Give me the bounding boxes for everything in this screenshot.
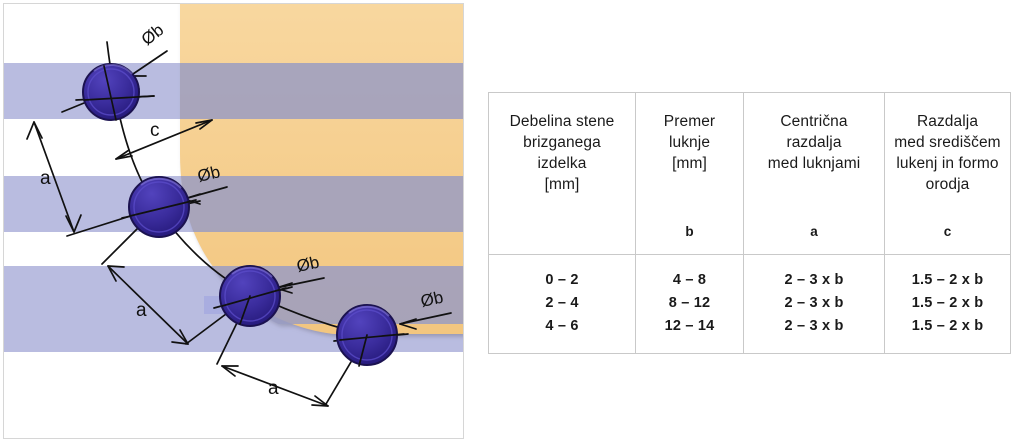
column-header-edge-distance-text: Razdalja med središčem lukenj in formo o… bbox=[885, 93, 1010, 195]
label-spacing-1: a bbox=[40, 168, 51, 189]
label-spacing-3: a bbox=[268, 378, 279, 399]
cell-wall-thickness-values: 0 – 2 2 – 4 4 – 6 bbox=[489, 255, 636, 354]
cell-edge-distance-values: 1.5 – 2 x b 1.5 – 2 x b 1.5 – 2 x b bbox=[885, 255, 1011, 354]
table-header-row: Debelina stene brizganega izdelka [mm] P… bbox=[489, 93, 1011, 255]
specification-table: Debelina stene brizganega izdelka [mm] P… bbox=[488, 92, 1011, 354]
wall-thickness-values: 0 – 2 2 – 4 4 – 6 bbox=[489, 255, 635, 338]
hole-2 bbox=[129, 177, 189, 237]
hole-1 bbox=[83, 64, 139, 120]
column-header-wall-thickness: Debelina stene brizganega izdelka [mm] bbox=[489, 93, 636, 255]
column-header-hole-diameter: Premer luknje [mm] b bbox=[636, 93, 744, 255]
cell-centre-distance-values: 2 – 3 x b 2 – 3 x b 2 – 3 x b bbox=[744, 255, 885, 354]
column-header-edge-distance: Razdalja med središčem lukenj in formo o… bbox=[885, 93, 1011, 255]
column-header-centre-distance-text: Centrična razdalja med luknjami bbox=[744, 93, 884, 174]
label-spacing-2: a bbox=[136, 300, 147, 321]
column-symbol-edge-distance: c bbox=[885, 224, 1010, 239]
cell-hole-diameter-values: 4 – 8 8 – 12 12 – 14 bbox=[636, 255, 744, 354]
column-header-wall-thickness-text: Debelina stene brizganega izdelka [mm] bbox=[489, 93, 635, 195]
figure-panel: Øb Øb Øb Øb a a a c bbox=[3, 3, 464, 439]
column-header-hole-diameter-text: Premer luknje [mm] bbox=[636, 93, 743, 174]
hole-diameter-values: 4 – 8 8 – 12 12 – 14 bbox=[636, 255, 743, 338]
hole-spacing-diagram: Øb Øb Øb Øb a a a c bbox=[4, 4, 463, 438]
column-symbol-hole-diameter: b bbox=[636, 224, 743, 239]
column-symbol-centre-distance: a bbox=[744, 224, 884, 239]
centre-distance-values: 2 – 3 x b 2 – 3 x b 2 – 3 x b bbox=[744, 255, 884, 338]
column-header-centre-distance: Centrična razdalja med luknjami a bbox=[744, 93, 885, 255]
table-row: 0 – 2 2 – 4 4 – 6 4 – 8 8 – 12 12 – 14 2… bbox=[489, 255, 1011, 354]
edge-distance-values: 1.5 – 2 x b 1.5 – 2 x b 1.5 – 2 x b bbox=[885, 255, 1010, 338]
label-edge-distance: c bbox=[150, 120, 160, 141]
